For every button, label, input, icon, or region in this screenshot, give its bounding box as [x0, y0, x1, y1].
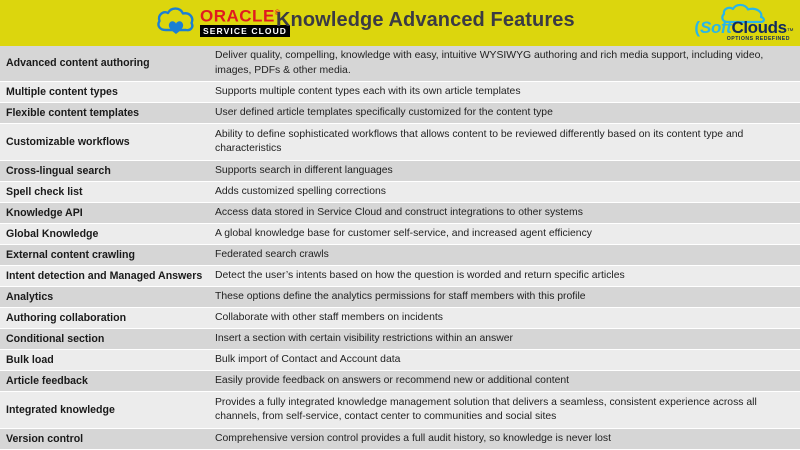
trademark-icon: ™	[787, 28, 794, 35]
softclouds-wordmark: (SoftClouds™	[694, 18, 794, 38]
feature-name-cell: Global Knowledge	[0, 228, 215, 241]
feature-description-cell: A global knowledge base for customer sel…	[215, 227, 800, 242]
page-title: Knowledge Advanced Features	[276, 9, 575, 32]
softclouds-logo: (SoftClouds™ OPTIONS REDEFINED	[694, 3, 794, 44]
feature-description-cell: Comprehensive version control provides a…	[215, 432, 800, 447]
feature-name-cell: Bulk load	[0, 354, 215, 367]
feature-name-cell: Advanced content authoring	[0, 57, 215, 70]
table-row: Global KnowledgeA global knowledge base …	[0, 224, 800, 245]
feature-description-cell: Adds customized spelling corrections	[215, 185, 800, 200]
table-row: Article feedbackEasily provide feedback …	[0, 371, 800, 392]
feature-name-cell: Article feedback	[0, 375, 215, 388]
feature-description-cell: Ability to define sophisticated workflow…	[215, 128, 800, 157]
table-row: Multiple content typesSupports multiple …	[0, 82, 800, 103]
features-table: Advanced content authoringDeliver qualit…	[0, 46, 800, 450]
feature-name-cell: Flexible content templates	[0, 107, 215, 120]
table-row: Flexible content templatesUser defined a…	[0, 103, 800, 124]
feature-name-cell: Intent detection and Managed Answers	[0, 270, 215, 283]
table-row: Spell check listAdds customized spelling…	[0, 182, 800, 203]
softclouds-part1: Soft	[700, 18, 731, 38]
feature-name-cell: Analytics	[0, 291, 215, 304]
feature-description-cell: Bulk import of Contact and Account data	[215, 353, 800, 368]
feature-description-cell: These options define the analytics permi…	[215, 290, 800, 305]
table-row: Conditional sectionInsert a section with…	[0, 329, 800, 350]
feature-name-cell: Cross-lingual search	[0, 165, 215, 178]
feature-name-cell: External content crawling	[0, 249, 215, 262]
slide-header: ORACLE® SERVICE CLOUD Knowledge Advanced…	[0, 0, 800, 46]
softclouds-tagline: OPTIONS REDEFINED	[694, 36, 794, 42]
table-row: Version controlComprehensive version con…	[0, 429, 800, 450]
feature-name-cell: Spell check list	[0, 186, 215, 199]
feature-description-cell: User defined article templates specifica…	[215, 106, 800, 121]
feature-name-cell: Authoring collaboration	[0, 312, 215, 325]
cloud-heart-icon	[156, 4, 196, 38]
table-row: Intent detection and Managed AnswersDete…	[0, 266, 800, 287]
feature-description-cell: Insert a section with certain visibility…	[215, 332, 800, 347]
feature-description-cell: Access data stored in Service Cloud and …	[215, 206, 800, 221]
feature-description-cell: Easily provide feedback on answers or re…	[215, 374, 800, 389]
feature-name-cell: Conditional section	[0, 333, 215, 346]
feature-description-cell: Provides a fully integrated knowledge ma…	[215, 396, 800, 425]
table-row: Cross-lingual searchSupports search in d…	[0, 161, 800, 182]
table-row: Customizable workflowsAbility to define …	[0, 124, 800, 161]
feature-description-cell: Supports multiple content types each wit…	[215, 85, 800, 100]
feature-name-cell: Multiple content types	[0, 86, 215, 99]
feature-name-cell: Customizable workflows	[0, 136, 215, 149]
feature-description-cell: Detect the user’s intents based on how t…	[215, 269, 800, 284]
table-row: Knowledge APIAccess data stored in Servi…	[0, 203, 800, 224]
feature-description-cell: Supports search in different languages	[215, 164, 800, 179]
table-row: Authoring collaborationCollaborate with …	[0, 308, 800, 329]
table-row: Advanced content authoringDeliver qualit…	[0, 46, 800, 82]
softclouds-part2: Clouds	[731, 18, 786, 38]
oracle-service-cloud-logo: ORACLE® SERVICE CLOUD	[156, 4, 290, 38]
slide-page: ORACLE® SERVICE CLOUD Knowledge Advanced…	[0, 0, 800, 450]
table-row: Integrated knowledgeProvides a fully int…	[0, 392, 800, 429]
table-row: External content crawlingFederated searc…	[0, 245, 800, 266]
feature-name-cell: Integrated knowledge	[0, 404, 215, 417]
feature-description-cell: Federated search crawls	[215, 248, 800, 263]
feature-name-cell: Knowledge API	[0, 207, 215, 220]
feature-name-cell: Version control	[0, 433, 215, 446]
feature-description-cell: Deliver quality, compelling, knowledge w…	[215, 49, 800, 78]
feature-description-cell: Collaborate with other staff members on …	[215, 311, 800, 326]
table-row: AnalyticsThese options define the analyt…	[0, 287, 800, 308]
table-row: Bulk loadBulk import of Contact and Acco…	[0, 350, 800, 371]
